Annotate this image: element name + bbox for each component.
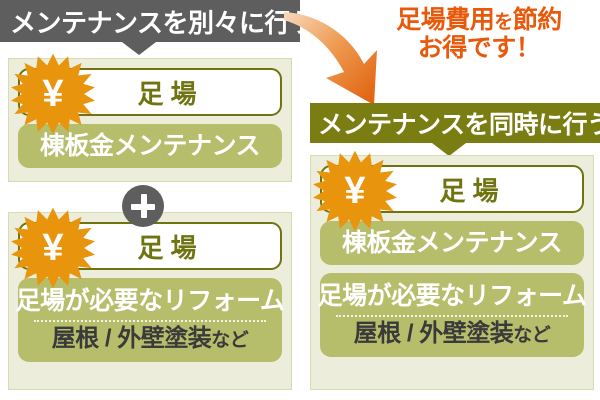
left-column-banner: メンテナンスを別々に行う xyxy=(0,0,300,42)
yen-starburst-icon-la: ¥ xyxy=(11,52,95,136)
left-item-reform-detail-main: 屋根 / 外壁塗装 xyxy=(52,325,212,352)
savings-particle: を xyxy=(494,12,513,33)
right-group-panel: ¥ 足場 棟板金メンテナンス 足場が必要なリフォーム 屋根 / 外壁塗装など xyxy=(310,155,594,390)
plus-connector-icon xyxy=(122,185,164,227)
yen-symbol-lb: ¥ xyxy=(42,229,63,267)
savings-line-1: 足場費用を節約 xyxy=(358,6,600,34)
savings-strong-2: 節約 xyxy=(513,6,562,34)
left-banner-label: メンテナンスを別々に行う xyxy=(10,3,315,40)
right-item-reform-divider xyxy=(336,315,568,317)
savings-line-2: お得です！ xyxy=(358,34,600,62)
scaffold-box-lb: ¥ 足場 xyxy=(18,222,282,270)
yen-starburst-icon-r: ¥ xyxy=(313,149,397,233)
right-item-reform-detail-main: 屋根 / 外壁塗装 xyxy=(354,320,514,347)
savings-strong-1: 足場費用 xyxy=(396,6,494,34)
right-item-reform-label: 足場が必要なリフォーム xyxy=(318,282,587,311)
right-item-reform-detail: 屋根 / 外壁塗装など xyxy=(354,320,551,348)
scaffold-label-r: 足場 xyxy=(432,171,505,208)
scaffold-label-la: 足場 xyxy=(130,74,203,111)
plus-bar-vertical xyxy=(141,194,147,218)
scaffold-label-lb: 足場 xyxy=(130,228,203,265)
yen-symbol-la: ¥ xyxy=(42,75,63,113)
yen-symbol-r: ¥ xyxy=(344,172,365,210)
scaffold-box-la: ¥ 足場 xyxy=(18,68,282,116)
infographic-canvas: メンテナンスを別々に行う 足場費用を節約 お得です！ メンテナンスを同時に行う xyxy=(0,0,600,400)
right-banner-label: メンテナンスを同時に行う xyxy=(318,105,600,141)
right-item-reform-detail-suffix: など xyxy=(513,325,550,346)
left-group-b-panel: ¥ 足場 足場が必要なリフォーム 屋根 / 外壁塗装など xyxy=(8,212,292,390)
left-group-a-panel: ¥ 足場 棟板金メンテナンス xyxy=(8,58,292,182)
left-item-reform-detail: 屋根 / 外壁塗装など xyxy=(52,325,249,353)
savings-callout: 足場費用を節約 お得です！ xyxy=(358,6,600,63)
yen-starburst-icon-lb: ¥ xyxy=(11,206,95,290)
left-item-reform-label: 足場が必要なリフォーム xyxy=(16,287,285,316)
left-item-reform-divider xyxy=(34,320,266,322)
right-item-reform: 足場が必要なリフォーム 屋根 / 外壁塗装など xyxy=(320,273,584,357)
scaffold-box-r: ¥ 足場 xyxy=(320,165,584,213)
left-banner-notch xyxy=(122,42,156,55)
left-item-reform-detail-suffix: など xyxy=(211,330,248,351)
left-item-reform: 足場が必要なリフォーム 屋根 / 外壁塗装など xyxy=(18,278,282,362)
right-column-banner: メンテナンスを同時に行う xyxy=(310,103,600,143)
